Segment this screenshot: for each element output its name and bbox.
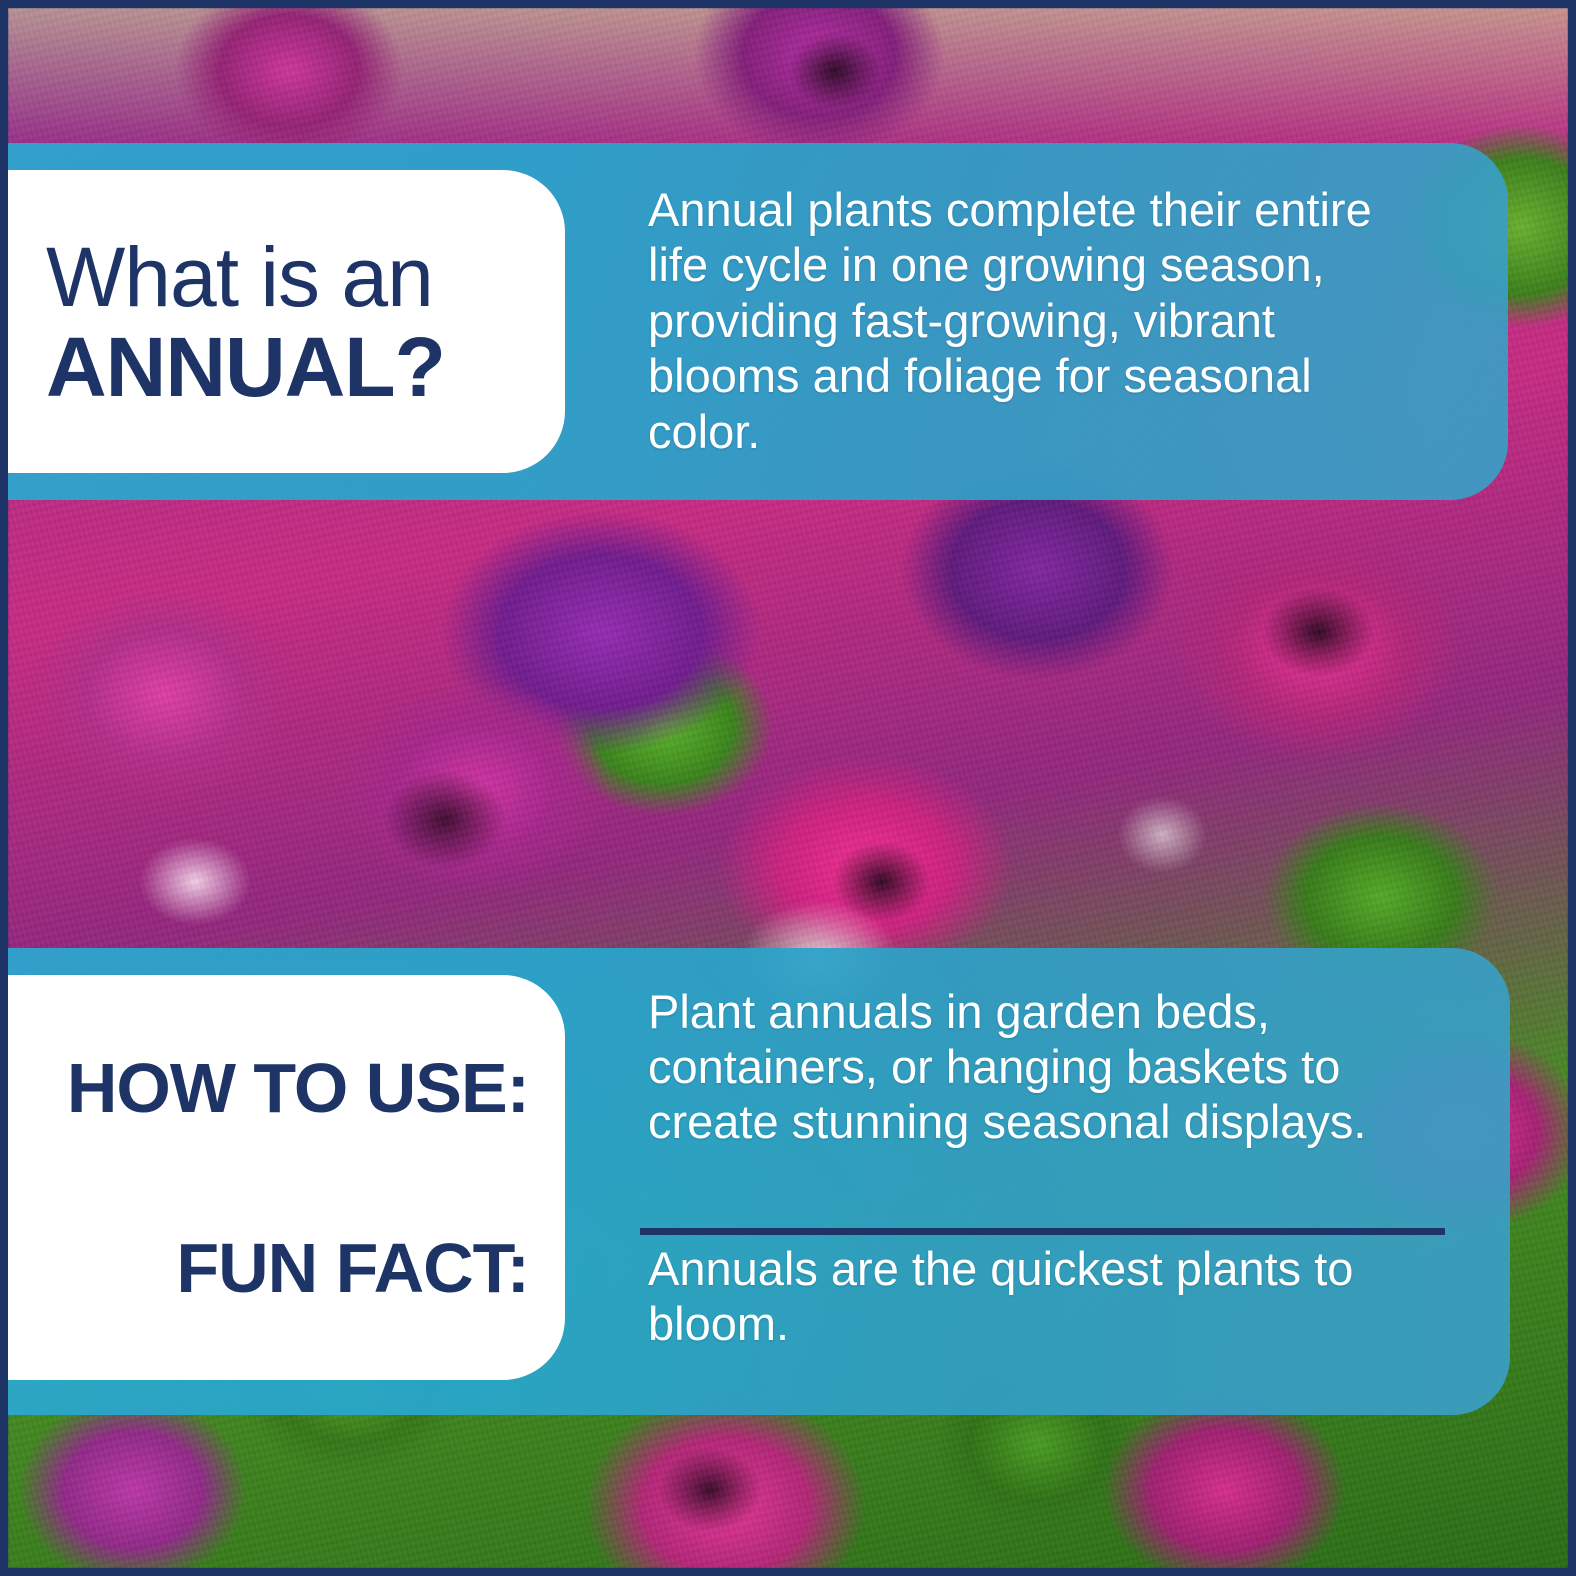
- label-stack: HOW TO USE: FUN FACT:: [8, 1053, 529, 1303]
- infographic-canvas: What is an ANNUAL? Annual plants complet…: [0, 0, 1576, 1576]
- title-card: What is an ANNUAL?: [8, 170, 565, 473]
- labels-card: HOW TO USE: FUN FACT:: [8, 975, 565, 1380]
- how-to-use-text: Plant annuals in garden beds, containers…: [648, 985, 1448, 1150]
- section-divider-line: [640, 1228, 1445, 1235]
- fun-fact-text: Annuals are the quickest plants to bloom…: [648, 1242, 1408, 1352]
- annual-description-text: Annual plants complete their entire life…: [648, 182, 1408, 459]
- title-line-two: ANNUAL?: [46, 325, 565, 409]
- title-line-one: What is an: [46, 235, 565, 319]
- fun-fact-label: FUN FACT:: [176, 1233, 529, 1303]
- how-to-use-label: HOW TO USE:: [67, 1053, 529, 1123]
